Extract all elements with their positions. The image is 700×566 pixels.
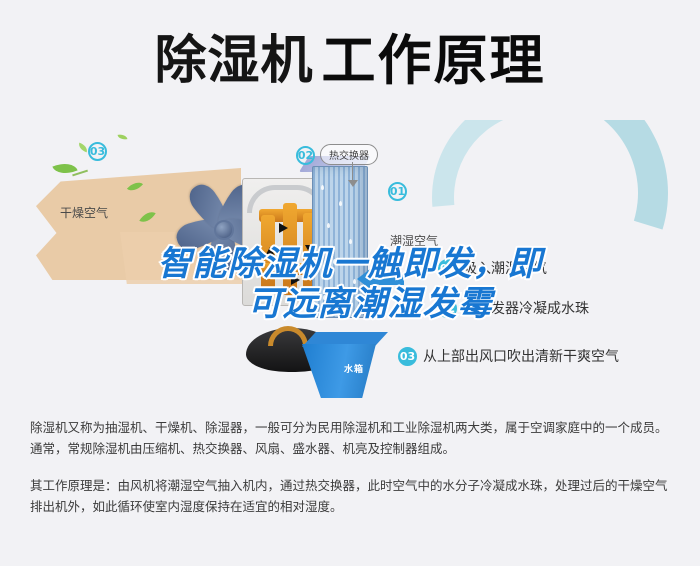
condenser-fins-icon [312,166,368,318]
water-tank-label: 水箱 [344,362,364,375]
dehumidifier-machine-icon [242,156,390,354]
step-03-text: 从上部出风口吹出清新干爽空气 [423,346,619,366]
step-01: 01 吸入潮湿空气 [438,258,547,278]
step-02: 02 在蒸发器冷凝成水珠 [438,298,589,318]
air-inlet-arrow-icon [370,274,404,285]
step-01-badge: 01 [438,259,457,278]
label-humid-air: 潮湿空气 [390,232,438,249]
fan-hub-icon [214,220,234,240]
callout-tip-icon [348,180,358,187]
step-02-badge: 02 [438,299,457,318]
title-part-1: 除湿机 [154,35,313,87]
leaf-icon [52,158,77,178]
step-03: 03 从上部出风口吹出清新干爽空气 [398,346,619,366]
step-03-badge: 03 [398,347,417,366]
title-part-2: 工作原理 [322,34,546,88]
label-dry-air: 干燥空气 [60,204,108,221]
infographic-page: 除湿机 工作原理 [0,0,700,566]
callout-heat-exchanger: 热交换器 [320,144,378,165]
badge-02-heat-exchanger: 02 [296,146,315,165]
body-copy: 除湿机又称为抽湿机、干燥机、除湿器，一般可分为民用除湿机和工业除湿机两大类，属于… [30,418,675,518]
badge-03-dry-air: 03 [88,142,107,161]
badge-01-humid-air: 01 [388,182,407,201]
water-tank-icon: 水箱 [302,332,388,398]
dehumidifier-diagram: 水箱 03 干燥空气 02 热交换器 01 潮湿空气 01 吸入潮湿空气 02 … [0,120,700,410]
paragraph-2: 其工作原理是：由风机将潮湿空气抽入机内，通过热交换器，此时空气中的水分子冷凝成水… [30,476,675,518]
callout-tail [352,162,353,182]
paragraph-1: 除湿机又称为抽湿机、干燥机、除湿器，一般可分为民用除湿机和工业除湿机两大类，属于… [30,418,675,460]
leaf-icon [118,133,128,140]
page-title: 除湿机 工作原理 [0,22,700,100]
step-01-text: 吸入潮湿空气 [463,258,547,278]
step-02-text: 在蒸发器冷凝成水珠 [463,298,589,318]
